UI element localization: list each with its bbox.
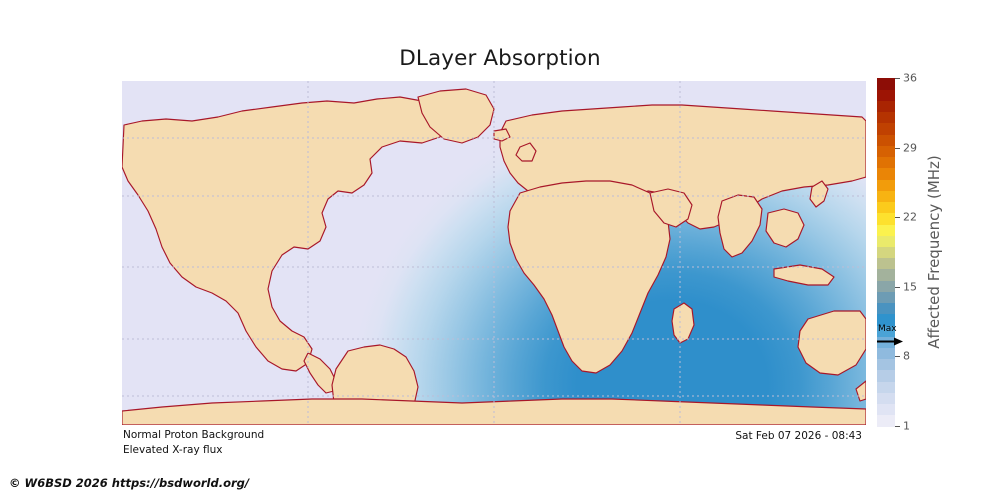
colorbar-tick	[895, 217, 900, 218]
colorbar-band	[877, 325, 895, 337]
colorbar-tick	[895, 148, 900, 149]
note-proton-background: Normal Proton Background	[123, 429, 264, 441]
colorbar-band	[877, 123, 895, 135]
map-plot-area[interactable]	[122, 81, 866, 425]
colorbar-tick	[895, 287, 900, 288]
colorbar-tick-label: 36	[903, 72, 917, 85]
colorbar-tick-label: 8	[903, 350, 910, 363]
page-title: DLayer Absorption	[0, 46, 1000, 71]
colorbar-band	[877, 213, 895, 225]
colorbar-band	[877, 314, 895, 326]
colorbar-band	[877, 347, 895, 359]
colorbar-band	[877, 201, 895, 213]
colorbar-band	[877, 224, 895, 236]
colorbar-band	[877, 258, 895, 270]
colorbar-band	[877, 235, 895, 247]
colorbar-tick-label: 29	[903, 141, 917, 154]
colorbar-band	[877, 336, 895, 348]
colorbar-band	[877, 78, 895, 90]
colorbar[interactable]: 1815222936	[877, 78, 895, 426]
colorbar-band	[877, 280, 895, 292]
colorbar-band	[877, 168, 895, 180]
colorbar-band	[877, 246, 895, 258]
colorbar-band	[877, 392, 895, 404]
colorbar-band	[877, 291, 895, 303]
colorbar-band	[877, 303, 895, 315]
colorbar-tick	[895, 78, 900, 79]
colorbar-band	[877, 89, 895, 101]
colorbar-gradient	[877, 78, 895, 426]
colorbar-band	[877, 157, 895, 169]
note-xray-flux: Elevated X-ray flux	[123, 444, 222, 456]
timestamp-label: Sat Feb 07 2026 - 08:43	[735, 430, 862, 442]
colorbar-band	[877, 100, 895, 112]
world-map	[122, 81, 866, 425]
colorbar-tick	[895, 426, 900, 427]
colorbar-band	[877, 415, 895, 427]
colorbar-band	[877, 190, 895, 202]
colorbar-tick	[895, 356, 900, 357]
colorbar-band	[877, 269, 895, 281]
colorbar-axis-label: Affected Frequency (MHz)	[925, 78, 945, 426]
colorbar-band	[877, 370, 895, 382]
colorbar-band	[877, 359, 895, 371]
colorbar-band	[877, 112, 895, 124]
colorbar-band	[877, 134, 895, 146]
colorbar-tick-label: 1	[903, 420, 910, 433]
colorbar-band	[877, 179, 895, 191]
colorbar-tick-label: 15	[903, 280, 917, 293]
footer-credit: © W6BSD 2026 https://bsdworld.org/	[9, 476, 249, 490]
colorbar-band	[877, 404, 895, 416]
colorbar-tick-label: 22	[903, 211, 917, 224]
colorbar-band	[877, 145, 895, 157]
colorbar-band	[877, 381, 895, 393]
figure-canvas: DLayer Absorption	[0, 0, 1000, 500]
